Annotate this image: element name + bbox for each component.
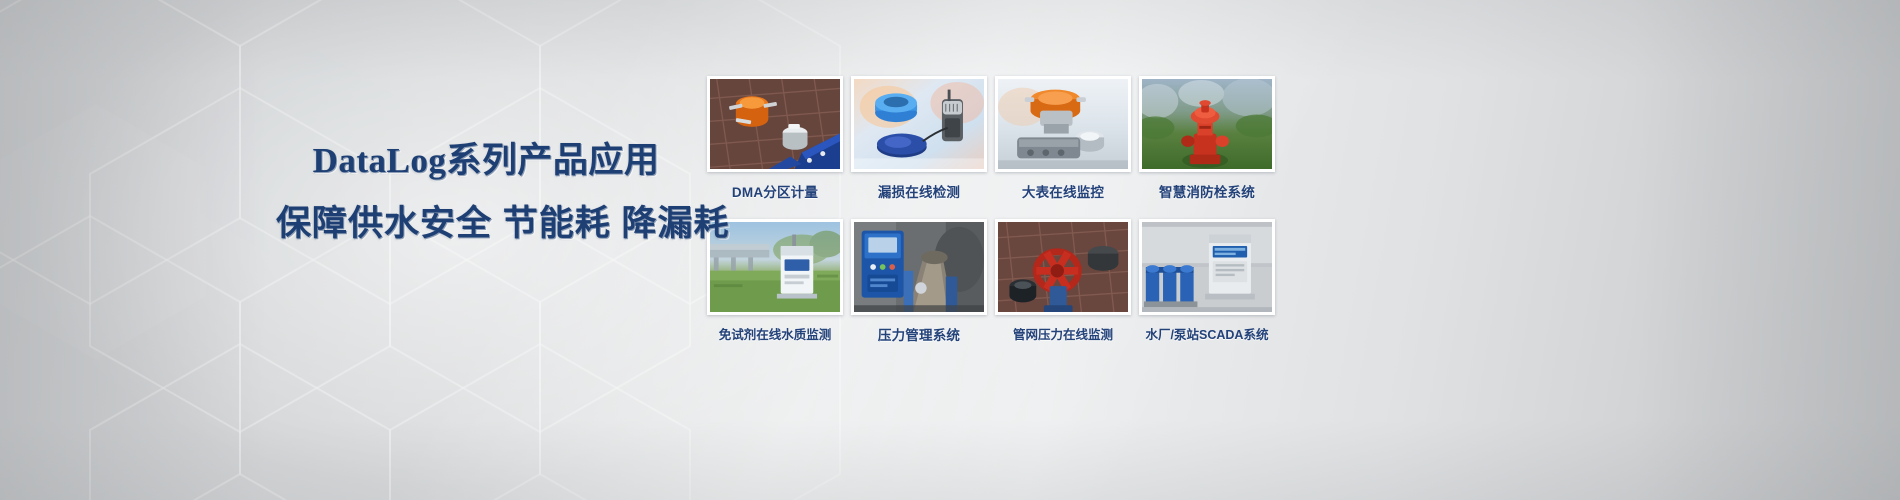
- pressure-management-system-photo[interactable]: [851, 219, 987, 315]
- product-caption: DMA分区计量: [707, 181, 843, 201]
- product-caption: 漏损在线检测: [851, 181, 987, 201]
- product-cell-large-meter-monitoring[interactable]: 大表在线监控: [995, 76, 1131, 201]
- headline-line-2: 保障供水安全 节能耗 降漏耗: [276, 205, 696, 244]
- headline-block: DataLog系列产品应用 保障供水安全 节能耗 降漏耗: [276, 142, 696, 243]
- product-caption: 管网压力在线监测: [995, 324, 1131, 343]
- product-caption: 大表在线监控: [995, 181, 1131, 201]
- product-cell-pressure-management-system[interactable]: 压力管理系统: [851, 219, 987, 344]
- product-application-banner: DataLog系列产品应用 保障供水安全 节能耗 降漏耗: [0, 0, 1900, 500]
- large-meter-online-monitoring-photo[interactable]: [995, 76, 1131, 172]
- product-caption: 水厂/泵站SCADA系统: [1139, 324, 1275, 343]
- dma-zone-metering-photo[interactable]: [707, 76, 843, 172]
- headline-line-1: DataLog系列产品应用: [276, 142, 696, 181]
- product-cell-dma-zone-metering[interactable]: DMA分区计量: [707, 76, 843, 201]
- smart-hydrant-system-photo[interactable]: [1139, 76, 1275, 172]
- thumbnail-row-2: 免试剂在线水质监测: [707, 219, 1277, 344]
- product-cell-smart-hydrant-system[interactable]: 智慧消防栓系统: [1139, 76, 1275, 201]
- product-cell-leakage-online-detection[interactable]: 漏损在线检测: [851, 76, 987, 201]
- product-thumbnail-grid: DMA分区计量: [707, 76, 1277, 344]
- waterworks-pump-scada-photo[interactable]: [1139, 219, 1275, 315]
- thumbnail-row-1: DMA分区计量: [707, 76, 1277, 201]
- product-caption: 智慧消防栓系统: [1139, 181, 1275, 201]
- product-caption: 压力管理系统: [851, 324, 987, 344]
- product-caption: 免试剂在线水质监测: [707, 324, 843, 343]
- pipe-network-pressure-monitoring-photo[interactable]: [995, 219, 1131, 315]
- product-cell-pipe-network-pressure-monitoring[interactable]: 管网压力在线监测: [995, 219, 1131, 344]
- product-cell-waterworks-scada-system[interactable]: 水厂/泵站SCADA系统: [1139, 219, 1275, 344]
- leakage-online-detection-photo[interactable]: [851, 76, 987, 172]
